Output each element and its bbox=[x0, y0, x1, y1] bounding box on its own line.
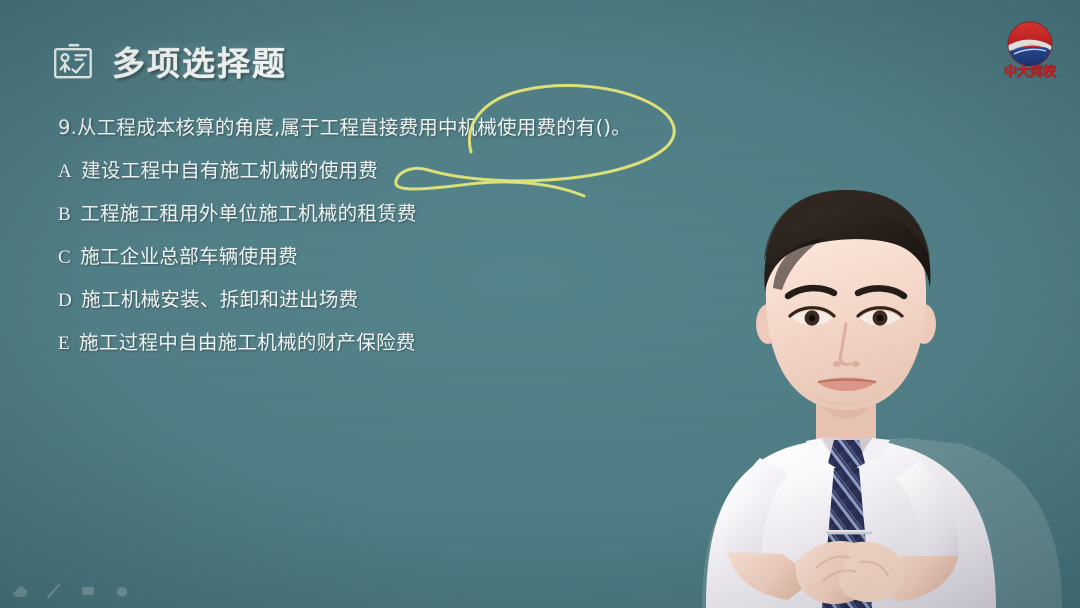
page-title: 多项选择题 bbox=[112, 47, 287, 80]
lecture-slide-screen: 多项选择题 9.从工程成本核算的角度,属于工程直接费用中机械使用费的有()。 A… bbox=[0, 0, 1080, 608]
pointer-tool-icon[interactable] bbox=[112, 582, 132, 600]
option-a-key: A bbox=[58, 157, 72, 186]
option-e-text: 施工过程中自由施工机械的财产保险费 bbox=[79, 328, 416, 357]
presentation-board-icon bbox=[50, 42, 96, 84]
eraser-tool-icon[interactable] bbox=[10, 582, 30, 600]
option-d-key: D bbox=[58, 286, 72, 315]
option-c-key: C bbox=[58, 243, 71, 272]
option-d-text: 施工机械安装、拆卸和进出场费 bbox=[81, 285, 358, 314]
svg-text:中大网校: 中大网校 bbox=[1004, 64, 1057, 80]
option-c-text: 施工企业总部车辆使用费 bbox=[80, 242, 298, 271]
instructor-video-overlay bbox=[610, 138, 1080, 608]
highlighter-tool-icon[interactable] bbox=[78, 582, 98, 600]
option-e-key: E bbox=[58, 329, 70, 358]
brand-wordmark: 中大网校 bbox=[1004, 64, 1057, 80]
brand-logo[interactable]: 中大网校 bbox=[994, 16, 1066, 82]
option-a-text: 建设工程中自有施工机械的使用费 bbox=[81, 156, 378, 185]
annotation-toolbar[interactable] bbox=[10, 582, 132, 600]
pen-tool-icon[interactable] bbox=[44, 582, 64, 600]
option-b-text: 工程施工租用外单位施工机械的租赁费 bbox=[80, 199, 417, 228]
slide-header: 多项选择题 bbox=[50, 42, 287, 84]
option-b-key: B bbox=[58, 200, 71, 229]
